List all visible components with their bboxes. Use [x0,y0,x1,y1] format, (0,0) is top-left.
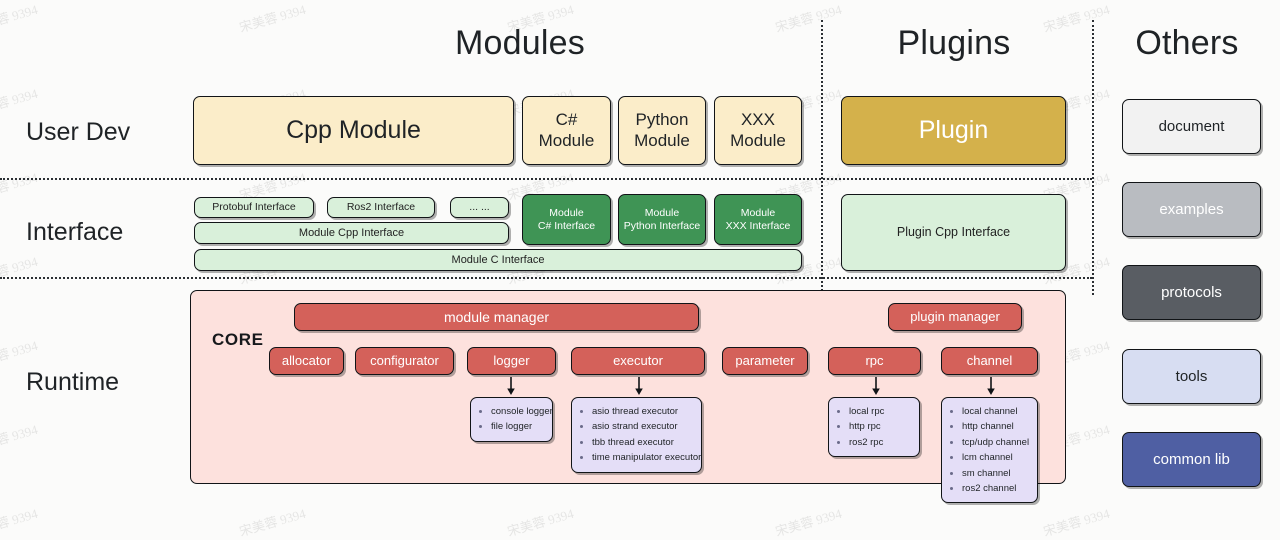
list-rpc-children: local rpchttp rpcros2 rpc [828,397,920,457]
list-item: file logger [491,419,544,434]
arrow-down-logger [504,377,518,395]
watermark-text: 宋美蓉 9394 [0,167,40,204]
box-module-manager[interactable]: module manager [294,303,699,331]
watermark-text: 宋美蓉 9394 [0,335,40,372]
box-rpc[interactable]: rpc [828,347,921,375]
box-parameter[interactable]: parameter [722,347,808,375]
arrow-down-executor [632,377,646,395]
list-item: local rpc [849,404,911,419]
list-item: ros2 channel [962,481,1029,496]
box-tools[interactable]: tools [1122,349,1261,404]
divider-interface-runtime [0,277,1092,279]
watermark-text: 宋美蓉 9394 [0,251,40,288]
box-module-xxx-interface[interactable]: Module XXX Interface [714,194,802,245]
divider-userdev-interface [0,178,1092,180]
box-examples[interactable]: examples [1122,182,1261,237]
watermark-text: 宋美蓉 9394 [1041,503,1112,540]
box-ros2-interface[interactable]: Ros2 Interface [327,197,435,218]
watermark-text: 宋美蓉 9394 [0,83,40,120]
list-channel-children: local channelhttp channeltcp/udp channel… [941,397,1038,503]
box-allocator[interactable]: allocator [269,347,344,375]
row-label-interface: Interface [26,218,123,247]
box-xxx-module[interactable]: XXX Module [714,96,802,165]
box-module-cpp-interface[interactable]: Module Cpp Interface [194,222,509,244]
column-title-others: Others [1102,24,1272,63]
list-executor-children: asio thread executorasio strand executor… [571,397,702,473]
watermark-text: 宋美蓉 9394 [773,503,844,540]
box-plugin-manager[interactable]: plugin manager [888,303,1022,331]
box-cpp-module[interactable]: Cpp Module [193,96,514,165]
box-etc-interface[interactable]: ... ... [450,197,509,218]
watermark-text: 宋美蓉 9394 [237,503,308,540]
list-item: ros2 rpc [849,435,911,450]
list-item: http channel [962,419,1029,434]
box-logger[interactable]: logger [467,347,556,375]
list-logger-children: console loggerfile logger [470,397,553,442]
box-csharp-module[interactable]: C# Module [522,96,611,165]
list-item: http rpc [849,419,911,434]
box-module-c-interface[interactable]: Module C Interface [194,249,802,271]
row-label-runtime: Runtime [26,368,119,397]
watermark-text: 宋美蓉 9394 [773,0,844,36]
box-channel[interactable]: channel [941,347,1038,375]
box-protobuf-interface[interactable]: Protobuf Interface [194,197,314,218]
list-item: local channel [962,404,1029,419]
watermark-text: 宋美蓉 9394 [0,503,40,540]
arrow-down-rpc [869,377,883,395]
core-label: CORE [212,330,264,350]
list-item: tbb thread executor [592,435,693,450]
watermark-text: 宋美蓉 9394 [505,503,576,540]
box-module-csharp-interface[interactable]: Module C# Interface [522,194,611,245]
list-item: sm channel [962,466,1029,481]
box-common-lib[interactable]: common lib [1122,432,1261,487]
box-protocols[interactable]: protocols [1122,265,1261,320]
box-plugin-cpp-interface[interactable]: Plugin Cpp Interface [841,194,1066,271]
column-title-modules: Modules [300,24,740,63]
box-document[interactable]: document [1122,99,1261,154]
box-executor[interactable]: executor [571,347,705,375]
row-label-user-dev: User Dev [26,118,130,147]
box-configurator[interactable]: configurator [355,347,454,375]
list-item: asio strand executor [592,419,693,434]
watermark-text: 宋美蓉 9394 [0,419,40,456]
box-module-python-interface[interactable]: Module Python Interface [618,194,706,245]
list-item: lcm channel [962,450,1029,465]
list-item: asio thread executor [592,404,693,419]
arrow-down-channel [984,377,998,395]
divider-plugins-others [1092,20,1094,295]
architecture-diagram: 宋美蓉 9394宋美蓉 9394宋美蓉 9394宋美蓉 9394宋美蓉 9394… [0,0,1280,519]
box-plugin[interactable]: Plugin [841,96,1066,165]
watermark-text: 宋美蓉 9394 [237,0,308,36]
column-title-plugins: Plugins [834,24,1074,63]
watermark-text: 宋美蓉 9394 [0,0,40,36]
box-python-module[interactable]: Python Module [618,96,706,165]
list-item: time manipulator executor [592,450,693,465]
list-item: console logger [491,404,544,419]
list-item: tcp/udp channel [962,435,1029,450]
